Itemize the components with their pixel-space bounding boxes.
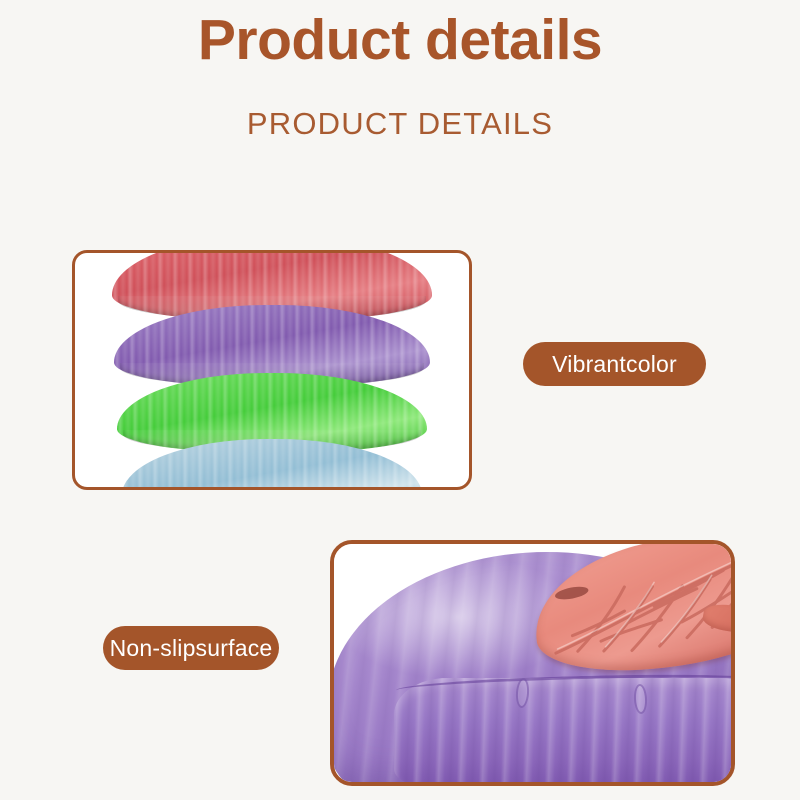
product-image-frame-non-slip-surface [330,540,735,786]
feature-badge-vibrant-color: Vibrantcolor [523,342,706,386]
page-subtitle: PRODUCT DETAILS [0,106,800,142]
feature-badge-non-slip-surface: Non-slipsurface [103,626,279,670]
product-image-frame-vibrant-color [72,250,472,490]
product-details-page: Product details PRODUCT DETAILS Vibrantc… [0,0,800,800]
page-title: Product details [0,8,800,74]
purple-cover-closeup-photo [334,544,731,782]
stacked-covers-photo [75,253,469,487]
